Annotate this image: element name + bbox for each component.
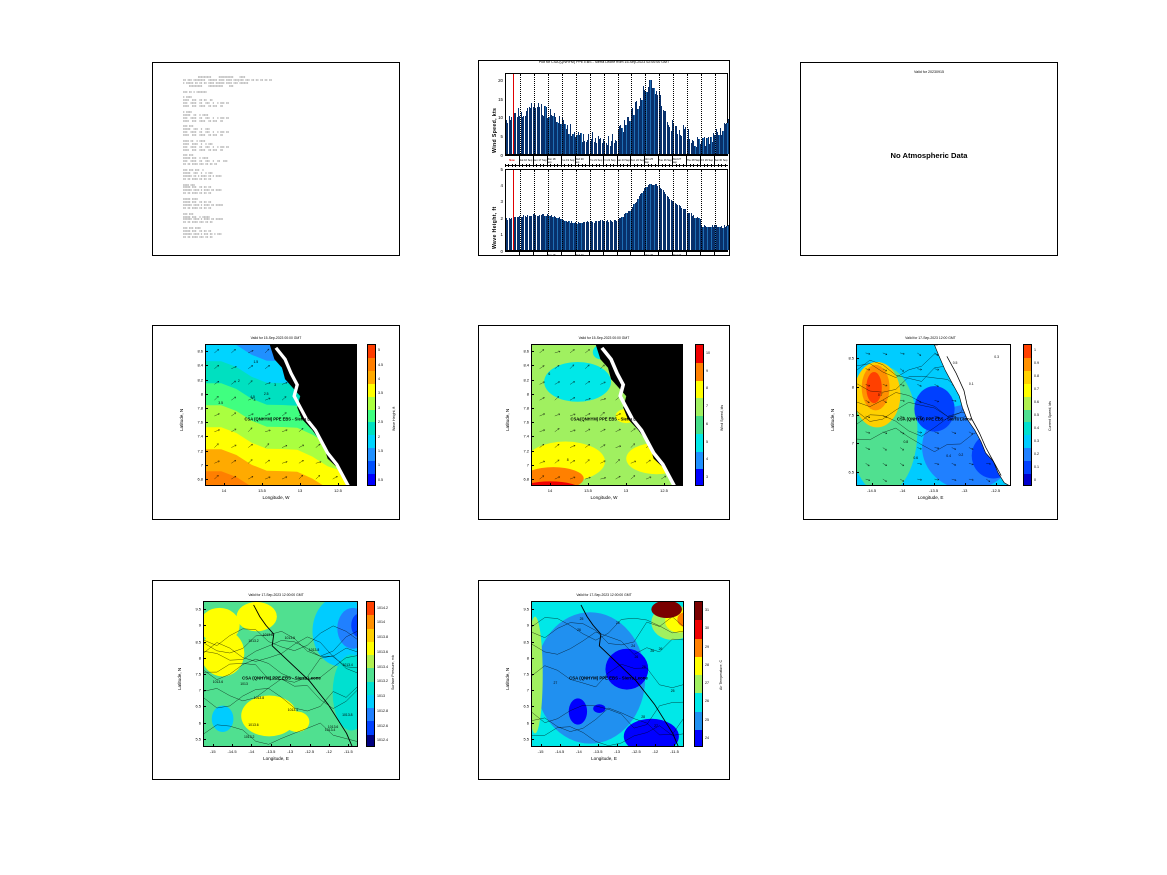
wave-height-ytick: 1 bbox=[489, 232, 503, 237]
day-gridline bbox=[673, 170, 674, 250]
ytick-mark bbox=[856, 387, 859, 388]
hour-tick bbox=[718, 164, 719, 167]
day-label-cell: Tue 26 Sep bbox=[658, 252, 673, 256]
wave-height-map-contour-label: 2 bbox=[238, 379, 240, 383]
current-speed-map-contour-label: 0.4 bbox=[946, 454, 951, 458]
current-speed-map-colorbar-tick: 0.7 bbox=[1034, 387, 1039, 391]
wave-height-map-colorbar-segment bbox=[368, 410, 375, 423]
current-speed-map-colorbar-tick: 0.3 bbox=[1034, 439, 1039, 443]
ytick-mark bbox=[531, 674, 534, 675]
day-label-cell: Sat 23 Sep bbox=[617, 252, 632, 256]
wave-height-axes bbox=[505, 169, 728, 251]
hour-tick bbox=[672, 164, 673, 167]
xtick-mark bbox=[674, 744, 675, 747]
wind-speed-map-xtick: 13.5 bbox=[584, 488, 592, 493]
surface-pressure-map-contour-label: 1013.8 bbox=[309, 648, 319, 652]
xtick-mark bbox=[664, 483, 665, 486]
hour-tick bbox=[564, 164, 565, 167]
timeseries-panel: Plot for CSA (QNHYM) PPE EBS - Sierra Le… bbox=[478, 60, 730, 256]
ytick-mark bbox=[531, 422, 534, 423]
surface-pressure-map-colorbar-segment bbox=[367, 629, 374, 642]
surface-pressure-map-ytick: 9.5 bbox=[186, 607, 201, 612]
hour-tick bbox=[658, 164, 659, 167]
xtick-mark bbox=[626, 483, 627, 486]
xtick-mark bbox=[348, 744, 349, 747]
hour-tick bbox=[568, 164, 569, 167]
air-temperature-map-colorbar-tick: 27 bbox=[705, 681, 709, 685]
hour-tick bbox=[599, 164, 600, 167]
wave-height-map-ytick: 7 bbox=[188, 462, 203, 467]
wave-height-map-colorbar-segment bbox=[368, 384, 375, 397]
air-temperature-map-ytick: 8 bbox=[514, 655, 529, 660]
day-label-cell: Sat 30 Sep bbox=[714, 252, 728, 256]
surface-pressure-map-colorbar-tick: 1012.8 bbox=[377, 709, 388, 713]
wave-height-map-contour-label: 1.5 bbox=[253, 360, 258, 364]
surface-pressure-map-colorbar-segment bbox=[367, 602, 374, 615]
surface-pressure-map-colorbar bbox=[366, 601, 375, 747]
wave-height-map-colorbar-tick: 4.5 bbox=[378, 363, 383, 367]
wind-speed-map-colorbar-label: Wind Speed, kts bbox=[720, 405, 724, 431]
surface-pressure-map-ytick: 7.5 bbox=[186, 672, 201, 677]
hour-tick bbox=[522, 164, 523, 167]
xtick-mark bbox=[560, 744, 561, 747]
xtick-mark bbox=[224, 483, 225, 486]
ytick-mark bbox=[531, 408, 534, 409]
wave-height-map-ytick: 8.4 bbox=[188, 363, 203, 368]
surface-pressure-map-xtick: -14 bbox=[249, 749, 255, 754]
ytick-mark bbox=[203, 674, 206, 675]
ytick-mark bbox=[531, 394, 534, 395]
wave-height-map-colorbar-tick: 2 bbox=[378, 435, 380, 439]
xtick-mark bbox=[310, 744, 311, 747]
surface-pressure-map-axes: 1013.61013.81013.61013.210131013.41013.8… bbox=[203, 601, 358, 747]
hour-tick bbox=[582, 164, 583, 167]
ytick-mark bbox=[531, 380, 534, 381]
wave-height-map-xtick: 12.5 bbox=[334, 488, 342, 493]
current-speed-map-colorbar-tick: 0 bbox=[1034, 478, 1036, 482]
surface-pressure-map-colorbar-segment bbox=[367, 668, 374, 681]
air-temperature-map-ytick: 9 bbox=[514, 623, 529, 628]
current-speed-map-contour-label: 0.8 bbox=[903, 440, 908, 444]
hour-tick bbox=[512, 164, 513, 167]
hour-tick bbox=[707, 164, 708, 167]
air-temperature-map-contour-label: 25 bbox=[580, 617, 584, 621]
current-speed-map-contour-label: 0.6 bbox=[913, 456, 918, 460]
day-label-cell: Sat 16 Sep bbox=[519, 252, 534, 256]
surface-pressure-map-colorbar-tick: 1012.4 bbox=[377, 738, 388, 742]
wave-height-map-site-label: CSA (QNHYM) PPE EBS - Sierra Leone bbox=[245, 416, 320, 421]
wave-height-map-colorbar-tick: 1.5 bbox=[378, 449, 383, 453]
hour-tick bbox=[515, 164, 516, 167]
current-speed-map-ytick: 7 bbox=[839, 441, 854, 446]
report-text: ========= ========== ==== == === =======… bbox=[183, 77, 395, 253]
hour-tick bbox=[648, 164, 649, 167]
xtick-mark bbox=[636, 744, 637, 747]
hour-tick bbox=[679, 164, 680, 167]
day-gridline bbox=[562, 170, 563, 250]
wind-speed-map-ytick: 8.6 bbox=[514, 349, 529, 354]
hour-tick bbox=[683, 164, 684, 167]
surface-pressure-map-colorbar-tick: 1013 bbox=[377, 694, 385, 698]
ytick-mark bbox=[205, 436, 208, 437]
hour-tick bbox=[603, 164, 604, 167]
now-marker-line bbox=[513, 170, 514, 250]
air-temperature-map-colorbar-tick: 29 bbox=[705, 645, 709, 649]
hour-tick bbox=[634, 164, 635, 167]
hour-tick bbox=[610, 164, 611, 167]
current-speed-map-contour-label: 0.2 bbox=[959, 453, 964, 457]
wind-speed-map-xtick: 12.5 bbox=[660, 488, 668, 493]
wind-speed-map-title: Valid for 15-Sep-2023 00:00 GMT bbox=[479, 336, 729, 340]
day-label-cell: Mon 18 Sep bbox=[547, 252, 562, 256]
surface-pressure-map-colorbar-tick: 1014.2 bbox=[377, 606, 388, 610]
surface-pressure-map-colorbar-tick: 1013.2 bbox=[377, 679, 388, 683]
current-speed-map-colorbar-segment bbox=[1024, 410, 1031, 423]
wind-speed-map-ytick: 6.8 bbox=[514, 476, 529, 481]
hour-tick bbox=[623, 164, 624, 167]
hour-tick bbox=[596, 164, 597, 167]
current-speed-map-site-label: CSA (QNHYM) PPE EBS - Sierra Leone bbox=[897, 416, 972, 421]
ytick-mark bbox=[856, 358, 859, 359]
xtick-mark bbox=[300, 483, 301, 486]
hour-tick bbox=[697, 164, 698, 167]
xtick-mark bbox=[872, 483, 873, 486]
air-temperature-map-contour-label: 26 bbox=[642, 665, 646, 669]
wind-speed-map-site-label: CSA (QNHYM) PPE EBS - Sierra Leone bbox=[571, 416, 646, 421]
air-temperature-map-contour-label: 27 bbox=[554, 681, 558, 685]
current-speed-map-colorbar-tick: 0.2 bbox=[1034, 452, 1039, 456]
xtick-mark bbox=[598, 744, 599, 747]
day-gridline bbox=[548, 74, 549, 154]
air-temperature-map-xtick: -14.5 bbox=[555, 749, 564, 754]
ytick-mark bbox=[205, 380, 208, 381]
surface-pressure-map-colorbar-tick: 1014 bbox=[377, 620, 385, 624]
current-speed-map-colorbar-segment bbox=[1024, 397, 1031, 410]
current-speed-map-ytick: 8.5 bbox=[839, 356, 854, 361]
hour-tick bbox=[526, 164, 527, 167]
day-gridline bbox=[631, 74, 632, 154]
wind-speed-map-colorbar-tick: 10 bbox=[706, 351, 710, 355]
xtick-mark bbox=[251, 744, 252, 747]
wave-height-map-colorbar-segment bbox=[368, 448, 375, 461]
ytick-mark bbox=[205, 408, 208, 409]
surface-pressure-map-ytick: 8 bbox=[186, 655, 201, 660]
ytick-mark bbox=[531, 351, 534, 352]
wind-speed-map-colorbar bbox=[695, 344, 704, 486]
ytick-mark bbox=[531, 690, 534, 691]
air-temperature-map-colorbar-tick: 30 bbox=[705, 626, 709, 630]
air-temperature-map-colorbar-label: Air Temperature, C bbox=[719, 660, 723, 690]
wind-speed-map-colorbar-segment bbox=[696, 345, 703, 363]
ytick-mark bbox=[205, 451, 208, 452]
day-gridline bbox=[520, 170, 521, 250]
xtick-mark bbox=[329, 744, 330, 747]
wind-speed-map-contour-label: 7 bbox=[633, 366, 635, 370]
wind-speed-map-ytick: 8 bbox=[514, 391, 529, 396]
wind-speed-map-colorbar-segment bbox=[696, 398, 703, 416]
current-speed-map-colorbar-tick: 0.8 bbox=[1034, 374, 1039, 378]
xtick-mark bbox=[996, 483, 997, 486]
surface-pressure-map-colorbar-segment bbox=[367, 642, 374, 655]
day-gridline bbox=[520, 74, 521, 154]
wave-height-map-colorbar-segment bbox=[368, 461, 375, 474]
air-temperature-map-contour-label: 27 bbox=[654, 724, 658, 728]
day-gridline bbox=[715, 170, 716, 250]
xtick-mark bbox=[232, 744, 233, 747]
hour-tick bbox=[508, 164, 509, 167]
xtick-mark bbox=[588, 483, 589, 486]
wind-speed-axes bbox=[505, 73, 728, 155]
surface-pressure-map-xtick: -11.5 bbox=[344, 749, 353, 754]
ytick-mark bbox=[203, 658, 206, 659]
ytick-mark bbox=[203, 690, 206, 691]
air-temperature-map-xtick: -15 bbox=[538, 749, 544, 754]
hour-tick bbox=[533, 164, 534, 167]
wind-speed-map-colorbar-tick: 8 bbox=[706, 386, 708, 390]
hour-tick bbox=[589, 164, 590, 167]
air-temperature-map-colorbar-segment bbox=[695, 602, 702, 620]
ytick-mark bbox=[856, 415, 859, 416]
day-gridline bbox=[534, 74, 535, 154]
wind-speed-map-colorbar-segment bbox=[696, 363, 703, 381]
wind-speed-map-colorbar-tick: 9 bbox=[706, 369, 708, 373]
xtick-mark bbox=[655, 744, 656, 747]
wave-height-map-colorbar-segment bbox=[368, 371, 375, 384]
wind-speed-map-ytick: 7.8 bbox=[514, 405, 529, 410]
day-gridline bbox=[687, 74, 688, 154]
air-temperature-map-site-label: CSA (QNHYM) PPE EBS - Sierra Leone bbox=[569, 675, 648, 680]
wave-height-map-contour-label: 3 bbox=[274, 383, 276, 387]
hour-tick bbox=[606, 164, 607, 167]
surface-pressure-map-xtick: -12 bbox=[326, 749, 332, 754]
wave-height-map-colorbar-tick: 3.5 bbox=[378, 391, 383, 395]
ytick-mark bbox=[205, 394, 208, 395]
surface-pressure-map-contour-label: 1013.6 bbox=[328, 725, 338, 729]
current-speed-map-contour-label: 0.7 bbox=[878, 393, 883, 397]
current-speed-map-xtick: -13.5 bbox=[929, 488, 938, 493]
ytick-mark bbox=[856, 443, 859, 444]
wave-height-map-ytick: 8.6 bbox=[188, 349, 203, 354]
wave-height-map-ytick: 7.2 bbox=[188, 448, 203, 453]
current-speed-map-colorbar-segment bbox=[1024, 435, 1031, 448]
surface-pressure-map-colorbar-tick: 1013.4 bbox=[377, 665, 388, 669]
day-label-cell: Wed 20 Sep bbox=[575, 252, 590, 256]
wave-height-map-ylabel: Latitude, N bbox=[179, 409, 184, 431]
wind-speed-map-xtick: 13 bbox=[624, 488, 628, 493]
hour-tick bbox=[543, 164, 544, 167]
wind-speed-map-ytick: 7.6 bbox=[514, 420, 529, 425]
surface-pressure-map-panel: Valid for 17-Sep-2023 12:00:00 GMT1013.6… bbox=[152, 580, 400, 780]
wind-speed-map-colorbar-segment bbox=[696, 469, 703, 486]
current-speed-map-title: Valid for 17-Sep-2023 12:00 GMT bbox=[804, 336, 1057, 340]
wave-height-map-colorbar-tick: 3 bbox=[378, 406, 380, 410]
hour-tick bbox=[676, 164, 677, 167]
day-gridline bbox=[590, 74, 591, 154]
wave-height-map-axes: 4.543.532.521.51CSA (QNHYM) PPE EBS - Si… bbox=[205, 344, 357, 486]
now-marker-line bbox=[513, 74, 514, 154]
xtick-mark bbox=[271, 744, 272, 747]
current-speed-map-colorbar-segment bbox=[1024, 448, 1031, 461]
hour-tick bbox=[686, 164, 687, 167]
ytick-mark bbox=[205, 351, 208, 352]
surface-pressure-map-xtick: -12.5 bbox=[305, 749, 314, 754]
current-speed-map-contour-label: 0.5 bbox=[953, 361, 958, 365]
hour-tick bbox=[550, 164, 551, 167]
day-gridline bbox=[687, 170, 688, 250]
wave-height-map-contour-label: 4 bbox=[254, 398, 256, 402]
surface-pressure-map-xtick: -15 bbox=[210, 749, 216, 754]
surface-pressure-map-ytick: 6.5 bbox=[186, 704, 201, 709]
hour-tick bbox=[529, 164, 530, 167]
hour-tick bbox=[725, 164, 726, 167]
surface-pressure-map-colorbar-tick: 1013.8 bbox=[377, 635, 388, 639]
wave-height-ytick: 0 bbox=[489, 249, 503, 254]
ytick-mark bbox=[531, 609, 534, 610]
current-speed-map-xtick: -12.5 bbox=[991, 488, 1000, 493]
wind-speed-map-ylabel: Latitude, N bbox=[505, 409, 510, 431]
current-speed-map-colorbar-segment bbox=[1024, 461, 1031, 474]
air-temperature-map-contour-label: 25 bbox=[671, 689, 675, 693]
air-temperature-map-title: Valid for 17-Sep-2023 12:00:00 GMT bbox=[479, 593, 729, 597]
ytick-mark bbox=[531, 479, 534, 480]
day-gridline bbox=[659, 74, 660, 154]
hour-tick bbox=[557, 164, 558, 167]
surface-pressure-map-contour-label: 1013.6 bbox=[213, 680, 223, 684]
current-speed-map-contour-label: 0.1 bbox=[969, 382, 974, 386]
air-temperature-map-colorbar-tick: 31 bbox=[705, 608, 709, 612]
wind-speed-map-colorbar-segment bbox=[696, 452, 703, 470]
xtick-mark bbox=[965, 483, 966, 486]
hour-tick bbox=[519, 164, 520, 167]
day-gridline bbox=[645, 170, 646, 250]
air-temperature-map-xtick: -12.5 bbox=[632, 749, 641, 754]
surface-pressure-map-contour-label: 1013 bbox=[240, 682, 248, 686]
surface-pressure-map-colorbar-segment bbox=[367, 615, 374, 628]
hour-tick bbox=[693, 164, 694, 167]
current-speed-map-contour-label: 0.3 bbox=[994, 355, 999, 359]
wave-height-map-colorbar-segment bbox=[368, 422, 375, 435]
ytick-mark bbox=[203, 706, 206, 707]
wind-speed-map-xtick: 14 bbox=[548, 488, 552, 493]
wind-speed-ytick: 0 bbox=[489, 153, 503, 158]
nodata-message: No Atmospheric Data bbox=[801, 151, 1057, 160]
day-label-cell: Fri 29 Sep bbox=[700, 252, 715, 256]
ytick-mark bbox=[203, 723, 206, 724]
wave-height-map-ytick: 6.8 bbox=[188, 476, 203, 481]
wind-speed-map-ytick: 7 bbox=[514, 462, 529, 467]
current-speed-map-colorbar-segment bbox=[1024, 422, 1031, 435]
air-temperature-map-xtick: -12 bbox=[652, 749, 658, 754]
current-speed-map-colorbar-tick: 1 bbox=[1034, 348, 1036, 352]
day-gridline bbox=[576, 170, 577, 250]
surface-pressure-map-colorbar-segment bbox=[367, 695, 374, 708]
current-speed-map-xtick: -14.5 bbox=[867, 488, 876, 493]
hour-tick bbox=[721, 164, 722, 167]
hour-tick bbox=[662, 164, 663, 167]
hour-tick bbox=[655, 164, 656, 167]
wave-height-map-xlabel: Longitude, W bbox=[153, 495, 399, 500]
day-label-cell: Fri 22 Sep bbox=[603, 252, 618, 256]
ytick-mark bbox=[205, 479, 208, 480]
wave-height-map-ytick: 8 bbox=[188, 391, 203, 396]
wave-height-map-ytick: 7.6 bbox=[188, 420, 203, 425]
current-speed-map-colorbar-tick: 0.6 bbox=[1034, 400, 1039, 404]
wind-speed-map-colorbar-tick: 4 bbox=[706, 457, 708, 461]
wind-speed-map-colorbar-tick: 6 bbox=[706, 422, 708, 426]
wave-height-bar bbox=[728, 225, 729, 250]
day-gridline bbox=[604, 74, 605, 154]
wind-speed-ytick: 20 bbox=[489, 78, 503, 83]
wave-height-map-ytick: 7.8 bbox=[188, 405, 203, 410]
air-temperature-map-contour-label: 25 bbox=[616, 621, 620, 625]
current-speed-map-ytick: 7.5 bbox=[839, 413, 854, 418]
air-temperature-map-ytick: 8.5 bbox=[514, 639, 529, 644]
wind-speed-ytick: 5 bbox=[489, 134, 503, 139]
surface-pressure-map-colorbar-label: Surface Pressure, mb bbox=[391, 655, 395, 690]
hour-tick bbox=[669, 164, 670, 167]
hour-tick bbox=[620, 164, 621, 167]
surface-pressure-map-contour-label: 1013.8 bbox=[254, 696, 264, 700]
surface-pressure-map-colorbar-segment bbox=[367, 721, 374, 734]
surface-pressure-map-xtick: -14.5 bbox=[228, 749, 237, 754]
wave-height-map-contour-label: 1 bbox=[325, 367, 327, 371]
day-label-cell: Sun 24 Sep bbox=[630, 252, 645, 256]
day-label-cell: Mon 25 Sep bbox=[644, 252, 659, 256]
air-temperature-map-ylabel: Latitude, N bbox=[505, 668, 510, 690]
xtick-mark bbox=[579, 744, 580, 747]
day-gridline bbox=[645, 74, 646, 154]
surface-pressure-map-colorbar-tick: 1012.6 bbox=[377, 724, 388, 728]
day-label-cell: Thu 28 Sep bbox=[686, 252, 701, 256]
air-temperature-map-ytick: 6 bbox=[514, 720, 529, 725]
air-temperature-map-contour-label: 24 bbox=[631, 644, 635, 648]
air-temperature-map-colorbar-segment bbox=[695, 657, 702, 675]
surface-pressure-map-site-label: CSA (QNHYM) PPE EBS - Sierra Leone bbox=[242, 675, 321, 680]
wave-height-map-xtick: 14 bbox=[222, 488, 226, 493]
hour-tick bbox=[613, 164, 614, 167]
xtick-mark bbox=[617, 744, 618, 747]
wave-height-map-panel: Valid for 15-Sep-2023 00:00 GMT4.543.532… bbox=[152, 325, 400, 520]
surface-pressure-map-xlabel: Longitude, E bbox=[153, 756, 399, 761]
ytick-mark bbox=[205, 465, 208, 466]
current-speed-map-colorbar-segment bbox=[1024, 371, 1031, 384]
hour-tick bbox=[637, 164, 638, 167]
air-temperature-map-colorbar-tick: 25 bbox=[705, 718, 709, 722]
current-speed-map-colorbar-segment bbox=[1024, 358, 1031, 371]
hour-tick bbox=[641, 164, 642, 167]
wave-height-map-contour-label: 2.5 bbox=[264, 392, 269, 396]
xtick-mark bbox=[338, 483, 339, 486]
forecast-report-panel: ========= ========== ==== == === =======… bbox=[152, 62, 400, 256]
air-temperature-map-colorbar-tick: 26 bbox=[705, 699, 709, 703]
ytick-mark bbox=[531, 723, 534, 724]
xtick-mark bbox=[262, 483, 263, 486]
xtick-mark bbox=[934, 483, 935, 486]
wave-height-ytick: 4 bbox=[489, 183, 503, 188]
day-label-cell: Thu 21 Sep bbox=[589, 252, 604, 256]
wave-height-map-colorbar-tick: 2.5 bbox=[378, 420, 383, 424]
current-speed-map-ytick: 8 bbox=[839, 384, 854, 389]
surface-pressure-map-title: Valid for 17-Sep-2023 12:00:00 GMT bbox=[153, 593, 399, 597]
hour-tick bbox=[554, 164, 555, 167]
wave-height-map-colorbar bbox=[367, 344, 376, 486]
atmospheric-no-data-panel: Valid for 20230915 No Atmospheric Data bbox=[800, 62, 1058, 256]
wave-height-map-colorbar-tick: 1 bbox=[378, 463, 380, 467]
surface-pressure-map-contour-label: 1013.8 bbox=[263, 633, 273, 637]
ytick-mark bbox=[531, 451, 534, 452]
wind-speed-ytick: 10 bbox=[489, 115, 503, 120]
ytick-mark bbox=[531, 706, 534, 707]
